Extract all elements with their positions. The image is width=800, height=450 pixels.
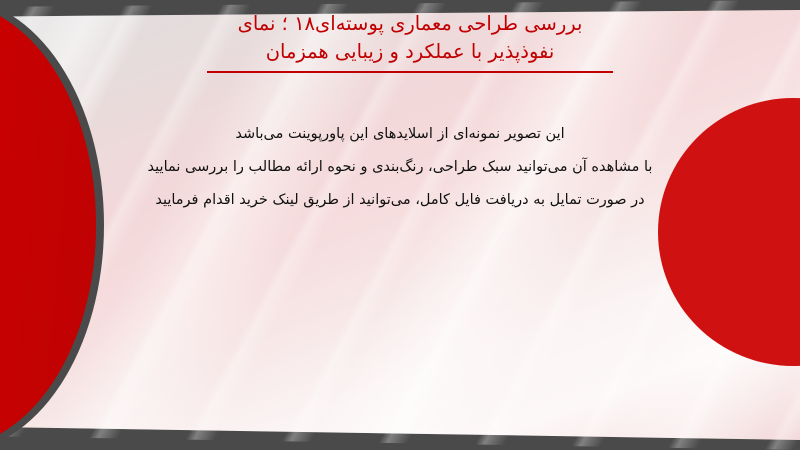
body-line-1: این تصویر نمونه‌ای از اسلایدهای این پاور… (80, 118, 720, 151)
slide-title: بررسی طراحی معماری پوسته‌ای۱۸ ؛ نمای نفو… (110, 10, 710, 73)
slide-content: بررسی طراحی معماری پوسته‌ای۱۸ ؛ نمای نفو… (0, 0, 800, 450)
slide-canvas: بررسی طراحی معماری پوسته‌ای۱۸ ؛ نمای نفو… (0, 0, 800, 450)
slide-title-line-1: بررسی طراحی معماری پوسته‌ای۱۸ ؛ نمای (110, 10, 710, 38)
slide-body-text: این تصویر نمونه‌ای از اسلایدهای این پاور… (80, 118, 720, 217)
body-line-2: با مشاهده آن می‌توانید سبک طراحی، رنگ‌بن… (80, 151, 720, 184)
title-underline-rule (207, 71, 613, 73)
slide-title-line-2: نفوذپذیر با عملکرد و زیبایی همزمان (110, 38, 710, 66)
body-line-3: در صورت تمایل به دریافت فایل کامل، می‌تو… (80, 184, 720, 217)
